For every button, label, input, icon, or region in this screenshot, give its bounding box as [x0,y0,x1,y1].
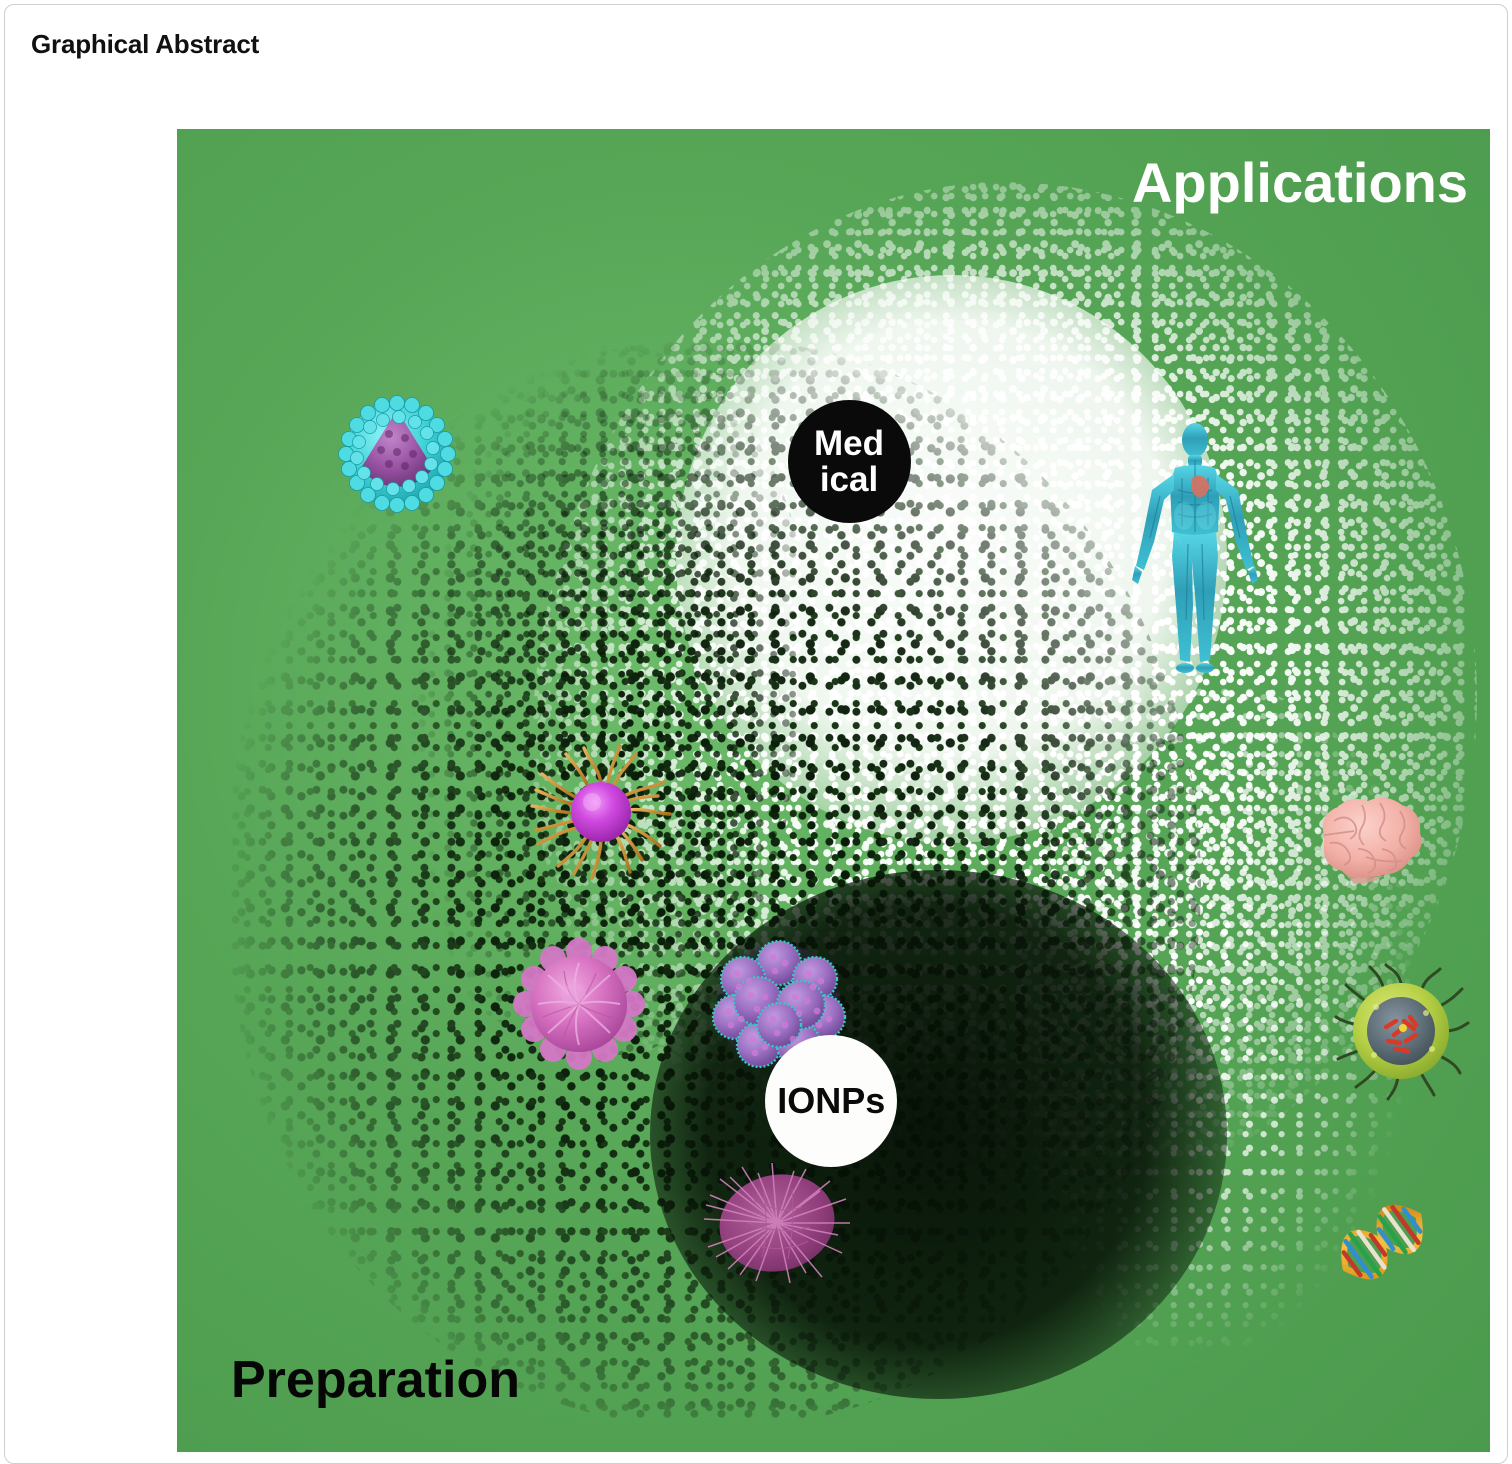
applications-label: Applications [1132,155,1468,211]
polymer-coated-nanoparticle-icon [526,738,676,888]
nanoflower-particle-icon [518,943,640,1065]
medical-bubble: Med ical [788,400,911,523]
brain-icon [1306,791,1432,891]
page-title: Graphical Abstract [31,29,259,60]
ionps-bubble: IONPs [765,1035,897,1167]
core-shell-nanoparticle-icon [337,394,457,514]
graphical-abstract-figure: Applications Preparation Med ical IONPs [177,129,1490,1452]
medical-label-line1: Med [814,426,884,462]
spiky-fibrous-nanostructure-icon [702,1161,852,1286]
graphical-abstract-card: Graphical Abstract [4,4,1508,1464]
medical-label-line2: ical [814,462,884,498]
human-body-anatomy-icon [1130,420,1260,680]
dna-double-helix-icon [1319,1190,1445,1294]
preparation-label: Preparation [231,1354,520,1406]
figure-canvas: Applications Preparation Med ical IONPs [177,129,1490,1452]
cell-with-chromosomes-icon [1346,973,1456,1091]
